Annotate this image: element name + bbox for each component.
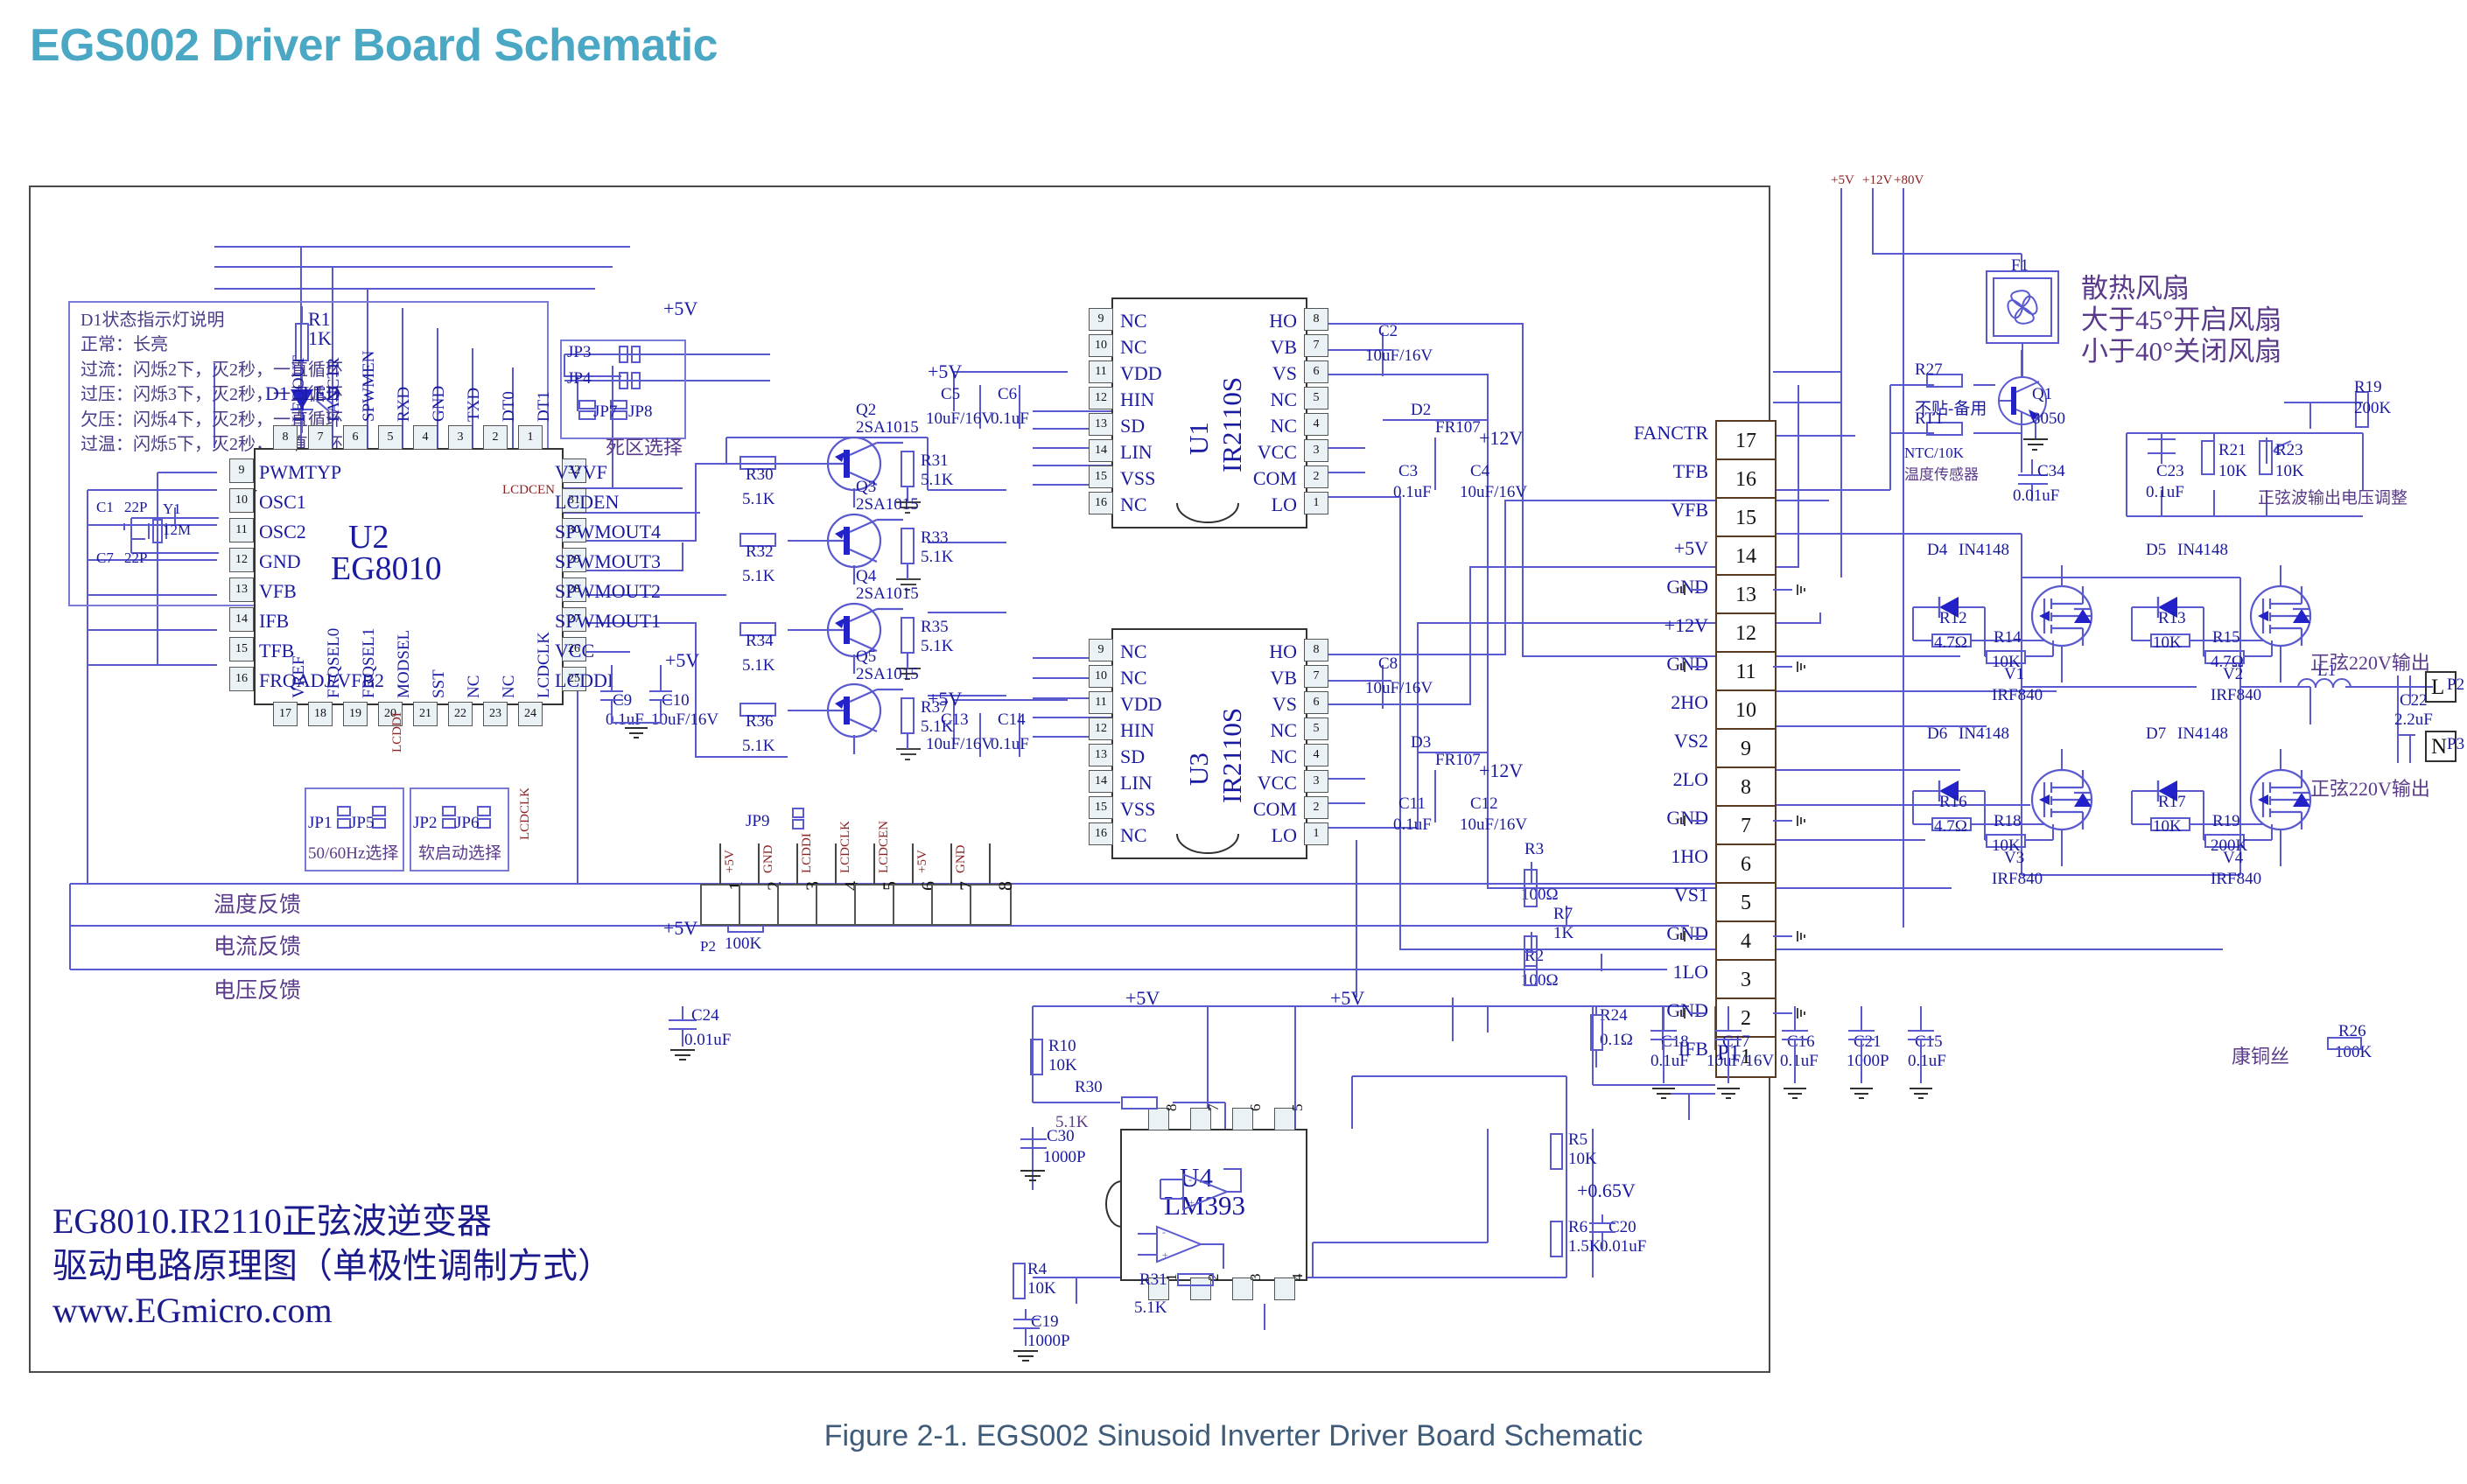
d7-ref: D7 [2146, 724, 2166, 744]
p1-pin-label-2ho-10: 2HO [1671, 691, 1708, 714]
c22-value: 2.2uF [2394, 710, 2433, 730]
ground-symbol [1658, 929, 1711, 952]
c24-ref: C24 [691, 1006, 719, 1025]
r10-symbol [1026, 1032, 1052, 1094]
u3-pin-13[interactable]: 13 [1089, 744, 1113, 766]
r19-ref: R19 [2354, 378, 2382, 397]
u3-pin-12[interactable]: 12 [1089, 717, 1113, 740]
brand-line-2: 驱动电路原理图（单极性调制方式） [53, 1243, 613, 1288]
u3-pin-14[interactable]: 14 [1089, 770, 1113, 793]
u2-pin-label-osc2: OSC2 [259, 521, 306, 543]
u3-pin-10[interactable]: 10 [1089, 665, 1113, 688]
u3-pin-label-vb-7: VB [1270, 667, 1297, 689]
u2-pin-23[interactable]: 23 [483, 702, 508, 726]
p2-ref: P2 [700, 938, 716, 955]
q2-part: 2SA1015 [856, 418, 919, 437]
u1-pin-4[interactable]: 4 [1304, 413, 1328, 436]
c24-value: 0.01uF [684, 1031, 731, 1050]
jp7-label: JP7 [593, 402, 617, 422]
svg-text:+: + [1162, 1249, 1168, 1261]
u2-pin-10[interactable]: 10 [229, 488, 254, 513]
p2-pin-wire [718, 843, 726, 884]
r1-value: 1K [308, 327, 332, 350]
p1-pin-16[interactable]: 16 [1715, 458, 1777, 500]
u2-pin-12[interactable]: 12 [229, 548, 254, 572]
u1-pin-5[interactable]: 5 [1304, 387, 1328, 409]
u1-pin-label-vss-15: VSS [1120, 467, 1155, 490]
u1-pin-label-lin-14: LIN [1120, 441, 1153, 464]
p2-pin-wire [833, 843, 842, 884]
ground-symbol [1773, 814, 1826, 836]
u2-pin-7[interactable]: 7 [308, 425, 333, 450]
p1-pin-label-1ho-6: 1HO [1671, 845, 1708, 868]
mosfet-v3-part: IRF840 [1992, 870, 2043, 889]
q5-part: 2SA1015 [856, 665, 919, 684]
u1-pin-label-vcc-3: VCC [1258, 441, 1297, 464]
r27-symbol [1117, 1094, 1178, 1116]
u2-pin-label-dt1: DT1 [535, 391, 554, 422]
u3-pin-label-com-2: COM [1253, 798, 1297, 821]
u1-pin-label-com-2: COM [1253, 467, 1297, 490]
d2-ref: D2 [1411, 401, 1431, 420]
c34-ref: C34 [2037, 462, 2065, 481]
p1-pin-label-tfb-16: TFB [1673, 460, 1708, 483]
u2-pin-17[interactable]: 17 [273, 702, 298, 726]
u1-ref: U1 [1183, 422, 1215, 455]
p2-pin-wire [987, 843, 996, 884]
q1-part: 8050 [2032, 409, 2065, 429]
r6-symbol [1545, 1214, 1572, 1276]
ground-symbol [1658, 583, 1711, 605]
c19-symbol [1008, 1309, 1052, 1370]
p1-pin-label-fanctr-17: FANCTR [1634, 422, 1708, 444]
u2-pin-15[interactable]: 15 [229, 637, 254, 661]
net-5v-lm393-b: +5V [1330, 987, 1364, 1010]
u1-pin-13[interactable]: 13 [1089, 413, 1113, 436]
p2-pin-wire [949, 843, 957, 884]
u2-pin-22[interactable]: 22 [448, 702, 473, 726]
r-r12-ref: R12 [1939, 609, 1967, 628]
u2-pin-3[interactable]: 3 [448, 425, 473, 450]
r23-ref: R23 [2275, 441, 2303, 460]
u2-pin-label-vref: VREF [290, 655, 309, 698]
ground-symbol [1773, 929, 1826, 952]
u1-pin-label-vdd-11: VDD [1120, 362, 1162, 385]
c6-value: 0.1uF [991, 409, 1029, 429]
u2-pin-label-spwmen: SPWMEN [360, 351, 379, 422]
u3-pin-label-nc-9: NC [1120, 640, 1147, 663]
u1-pin-label-nc-5: NC [1270, 388, 1297, 411]
u1-pin-label-nc-9: NC [1120, 310, 1147, 332]
rt1-note: 温度传感器 [1904, 462, 1979, 484]
u3-pin-11[interactable]: 11 [1089, 691, 1113, 714]
u2-pin-11[interactable]: 11 [229, 518, 254, 542]
u3-pin-6[interactable]: 6 [1304, 691, 1328, 714]
r-r18-ref: R18 [1994, 812, 2022, 831]
net-5v-u1: +5V [928, 360, 962, 383]
u3-notch [1177, 834, 1238, 860]
r-r33-value: 5.1K [921, 548, 953, 567]
u4-pin-number-4: 4 [1289, 1274, 1307, 1282]
u1-pin-label-ho-8: HO [1269, 310, 1297, 332]
u3-pin-16[interactable]: 16 [1089, 822, 1113, 845]
p1-pin-7[interactable]: 7 [1715, 805, 1777, 847]
d5-ref: D5 [2146, 541, 2166, 560]
p1-pin-9[interactable]: 9 [1715, 728, 1777, 770]
r-r31-ref: R31 [921, 451, 949, 471]
c3-ref: C3 [1398, 462, 1418, 481]
u2-pin-1[interactable]: 1 [518, 425, 543, 450]
p1-pin-label-+5v-14: +5V [1674, 537, 1708, 560]
feedback-label-current: 电流反馈 [214, 929, 301, 961]
u1-pin-label-lo-1: LO [1272, 493, 1297, 516]
r5-value: 10K [1568, 1150, 1597, 1169]
p2-pin-number-8: 8 [994, 881, 1017, 891]
p2-5v-label: +5V [663, 917, 697, 940]
r21-ref: R21 [2218, 441, 2246, 460]
u1-pin-label-vs-6: VS [1272, 362, 1297, 385]
u3-pin-label-hin-12: HIN [1120, 719, 1154, 742]
r-r35-value: 5.1K [921, 637, 953, 656]
c23-ref: C23 [2156, 462, 2184, 481]
mosfet-v3-ref: V3 [2004, 849, 2024, 868]
mosfet-v1-ref: V1 [2004, 665, 2024, 684]
u1-pin-3[interactable]: 3 [1304, 439, 1328, 462]
u1-part: IR2110S [1216, 377, 1248, 472]
u2-pin-label-sst: SST [430, 669, 449, 698]
d5-part: IN4148 [2177, 541, 2228, 560]
p1-pin-8[interactable]: 8 [1715, 766, 1777, 808]
u2-pin-9[interactable]: 9 [229, 458, 254, 483]
r-r35-ref: R35 [921, 618, 949, 637]
jp4-label: JP4 [567, 369, 591, 388]
output-l-label: L [2431, 675, 2444, 700]
u2-pin-label-nc: NC [500, 675, 519, 698]
u3-pin-9[interactable]: 9 [1089, 639, 1113, 661]
q3-part: 2SA1015 [856, 495, 919, 514]
u2-pin-21[interactable]: 21 [413, 702, 438, 726]
r-r33-ref: R33 [921, 528, 949, 548]
ground-symbol [1773, 660, 1826, 682]
d3-ref: D3 [1411, 733, 1431, 752]
r-r17-value: 10K [2153, 817, 2182, 836]
p1-pin-label-vs1-5: VS1 [1674, 884, 1708, 906]
d2-part: FR107 [1435, 418, 1481, 437]
u2-pin-13[interactable]: 13 [229, 577, 254, 602]
u1-notch [1177, 503, 1238, 529]
p1-feedback-resistors [1514, 849, 1549, 1041]
u2-pin-18[interactable]: 18 [308, 702, 333, 726]
feedback-label-temp: 温度反馈 [214, 887, 301, 919]
net-lcdcen: LCDCEN [502, 483, 555, 498]
q4-ref: Q4 [856, 567, 876, 586]
jp5-label: JP5 [350, 814, 374, 833]
feedback-label-voltage: 电压反馈 [214, 973, 301, 1004]
p1-pin-12[interactable]: 12 [1715, 612, 1777, 654]
ac-out-top-label: 正弦220V输出 [2310, 647, 2430, 675]
c14-ref: C14 [998, 710, 1026, 730]
p1-pin-label-2lo-8: 2LO [1673, 768, 1708, 791]
r-r13-ref: R13 [2158, 609, 2186, 628]
u2-pin-label-modsel: MODSEL [395, 630, 414, 698]
net-lcddi: LCDDI [390, 712, 405, 752]
c6-ref: C6 [998, 385, 1017, 404]
r5-symbol [1545, 1127, 1572, 1188]
rail-label-5v: +5V [1831, 173, 1854, 188]
p1-pin-5[interactable]: 5 [1715, 882, 1777, 924]
u1-pin-label-nc-4: NC [1270, 415, 1297, 437]
u3-pin-label-vs-6: VS [1272, 693, 1297, 716]
u3-pin-2[interactable]: 2 [1304, 796, 1328, 819]
c1-ref: C1 [96, 499, 114, 516]
u3-pin-label-lo-1: LO [1272, 824, 1297, 847]
p1-pin-label-1lo-3: 1LO [1673, 961, 1708, 983]
fan-note-line3: 小于40°关闭风扇 [2081, 329, 2281, 368]
u3-pin-15[interactable]: 15 [1089, 796, 1113, 819]
net-12v-u1: +12V [1479, 427, 1523, 450]
y1-ref: Y1 [163, 500, 181, 518]
u3-pin-label-vss-15: VSS [1120, 798, 1155, 821]
rail-label-12v: +12V [1862, 173, 1892, 188]
r21-value: 10K [2218, 462, 2247, 481]
u1-pin-8[interactable]: 8 [1304, 308, 1328, 331]
r-r15-ref: R15 [2212, 628, 2240, 647]
u4-pin-number-7: 7 [1205, 1104, 1223, 1112]
r-r36-value: 5.1K [742, 737, 774, 756]
u2-pin-24[interactable]: 24 [518, 702, 543, 726]
net-lcdclk: LCDCLK [518, 787, 533, 840]
r-r32-ref: R32 [746, 542, 774, 562]
d6-part: IN4148 [1959, 724, 2009, 744]
p2-pin-wire [756, 843, 765, 884]
p1-pin-17[interactable]: 17 [1715, 420, 1777, 462]
u3-part: IR2110S [1216, 708, 1248, 803]
r7-ref: R7 [1553, 905, 1573, 924]
jp2-label: JP2 [413, 814, 437, 833]
c23-value: 0.1uF [2146, 483, 2184, 502]
u1-pin-9[interactable]: 9 [1089, 308, 1113, 331]
u2-pin-label-gnd: GND [430, 386, 449, 422]
u3-pin-label-vcc-3: VCC [1258, 772, 1297, 794]
u3-pin-label-vdd-11: VDD [1120, 693, 1162, 716]
y1-value: 12M [163, 521, 191, 539]
deadzone-label: 死区选择 [606, 432, 683, 460]
u2-pin-label-fanctr: FANCTR [325, 357, 344, 422]
r7-value: 1K [1553, 924, 1573, 943]
p1-pin-14[interactable]: 14 [1715, 535, 1777, 577]
u4-pin-number-3: 3 [1247, 1274, 1265, 1282]
ground-symbol [1658, 660, 1711, 682]
d6-ref: D6 [1927, 724, 1947, 744]
c5-ref: C5 [941, 385, 960, 404]
r-r30-ref: R30 [746, 465, 774, 485]
r-r16-ref: R16 [1939, 793, 1967, 812]
r10-value: 10K [1048, 1056, 1077, 1075]
u1-pin-7[interactable]: 7 [1304, 334, 1328, 357]
c1-value: 22P [124, 499, 147, 516]
r19-value: 200K [2354, 399, 2391, 418]
q5-ref: Q5 [856, 647, 876, 667]
u2-pin-label-osc1: OSC1 [259, 491, 306, 514]
u2-pin-label-ifb: IFB [259, 610, 289, 633]
u1-pin-11[interactable]: 11 [1089, 360, 1113, 383]
u2-pin-label-pwmtyp: PWMTYP [259, 461, 341, 484]
u2-pin-19[interactable]: 19 [343, 702, 368, 726]
u1-pin-10[interactable]: 10 [1089, 334, 1113, 357]
u2-pin-label-ledout: LEDOUT [290, 355, 309, 422]
p1-pin-3[interactable]: 3 [1715, 959, 1777, 1001]
u1-pin-15[interactable]: 15 [1089, 465, 1113, 488]
net-5v-u3: +5V [928, 688, 962, 710]
r26-ref: R31 [1139, 1270, 1167, 1290]
u3-pin-7[interactable]: 7 [1304, 665, 1328, 688]
u3-pin-1[interactable]: 1 [1304, 822, 1328, 845]
r25-ref: R27 [1915, 360, 1943, 380]
jp3-label: JP3 [567, 343, 591, 362]
svg-text:-: - [1188, 1173, 1192, 1186]
u2-pin-label-frqsel0: FRQSEL0 [325, 628, 344, 698]
c13-ref: C13 [941, 710, 969, 730]
p1-pin-label-vs2-9: VS2 [1674, 730, 1708, 752]
c13-value: 10uF/16V [926, 735, 993, 754]
u2-pin-label-frqsel1: FRQSEL1 [360, 628, 379, 698]
r-r31-value: 5.1K [921, 471, 953, 490]
u2-pin-label-dt0: DT0 [500, 391, 519, 422]
u1-pin-1[interactable]: 1 [1304, 492, 1328, 514]
d4-part: IN4148 [1959, 541, 2009, 560]
c12-ref: C12 [1470, 794, 1498, 814]
u3-pin-label-nc-5: NC [1270, 719, 1297, 742]
net-12v-u3: +12V [1479, 759, 1523, 782]
shunt-label: 康铜丝 [2232, 1041, 2289, 1069]
p2-pin-wire [872, 843, 880, 884]
u1-pin-label-nc-16: NC [1120, 493, 1147, 516]
u2-pin-4[interactable]: 4 [413, 425, 438, 450]
u2-pin-label-txd: TXD [465, 388, 484, 422]
u2-pin-label-gnd: GND [259, 550, 301, 573]
q4-part: 2SA1015 [856, 584, 919, 604]
c4-ref: C4 [1470, 462, 1489, 481]
c5-value: 10uF/16V [926, 409, 993, 429]
r-r19-ref: R19 [2212, 812, 2240, 831]
brand-block: EG8010.IR2110正弦波逆变器 驱动电路原理图（单极性调制方式） www… [53, 1199, 613, 1333]
u1-pin-label-nc-10: NC [1120, 336, 1147, 359]
c2-ref: C2 [1378, 322, 1398, 341]
jp1-label: JP1 [308, 814, 332, 833]
c2-value: 10uF/16V [1365, 346, 1433, 366]
u4-pin-number-5: 5 [1289, 1104, 1307, 1112]
p2-pin-wire [795, 843, 803, 884]
p1-pin-15[interactable]: 15 [1715, 497, 1777, 539]
u2-pin-14[interactable]: 14 [229, 607, 254, 632]
u3-pin-label-nc-16: NC [1120, 824, 1147, 847]
r26-symbol [1173, 1270, 1234, 1293]
u1-pin-6[interactable]: 6 [1304, 360, 1328, 383]
u3-pin-4[interactable]: 4 [1304, 744, 1328, 766]
u1-pin-2[interactable]: 2 [1304, 465, 1328, 488]
u2-pin-5[interactable]: 5 [378, 425, 403, 450]
mosfet-v2-part: IRF840 [2211, 686, 2261, 705]
r38-value: 100K [725, 934, 761, 954]
c11-value: 0.1uF [1393, 815, 1432, 835]
c11-ref: C11 [1398, 794, 1426, 814]
p1-pin-13[interactable]: 13 [1715, 574, 1777, 616]
u2-pin-label-vfb: VFB [259, 580, 297, 603]
u1-pin-12[interactable]: 12 [1089, 387, 1113, 409]
p2-pin-wire [910, 843, 919, 884]
r-r34-ref: R34 [746, 632, 774, 651]
u3-pin-label-nc-10: NC [1120, 667, 1147, 689]
net-5v-top: +5V [663, 297, 697, 320]
r-r16-value: 4.7Ω [1934, 817, 1967, 836]
u2-pin-2[interactable]: 2 [483, 425, 508, 450]
u3-pin-label-nc-4: NC [1270, 745, 1297, 768]
net-065v: +0.65V [1577, 1179, 1636, 1202]
mosfet-v4-ref: V4 [2223, 849, 2243, 868]
u3-pin-8[interactable]: 8 [1304, 639, 1328, 661]
mosfet-v4-part: IRF840 [2211, 870, 2261, 889]
r-r12-value: 4.7Ω [1934, 633, 1967, 653]
u3-pin-3[interactable]: 3 [1304, 770, 1328, 793]
u3-pin-label-lin-14: LIN [1120, 772, 1153, 794]
r-r13-value: 10K [2153, 633, 2182, 653]
u3-ref: U3 [1183, 752, 1215, 786]
p1-pin-11[interactable]: 11 [1715, 651, 1777, 693]
p1-pin-label-vfb-15: VFB [1671, 499, 1708, 521]
r-r14-ref: R14 [1994, 628, 2022, 647]
softstart-select-label: 软启动选择 [418, 840, 501, 864]
u3-pin-5[interactable]: 5 [1304, 717, 1328, 740]
rt1-value: NTC/10K [1904, 444, 1964, 462]
u2-vcc-caps [595, 665, 718, 744]
f1-ref: F1 [2011, 256, 2029, 276]
p1-pin-10[interactable]: 10 [1715, 689, 1777, 731]
jp6-label: JP6 [455, 814, 479, 833]
u2-pin-16[interactable]: 16 [229, 667, 254, 691]
d3-part: FR107 [1435, 751, 1481, 770]
output-n-label: N [2431, 735, 2447, 759]
mosfet-v1-part: IRF840 [1992, 686, 2043, 705]
sine-adjust-label: 正弦波输出电压调整 [2258, 485, 2407, 508]
r23-value: 10K [2275, 462, 2304, 481]
u2-part: EG8010 [331, 549, 442, 588]
ground-symbol [1658, 814, 1711, 836]
ac-out-bottom-label: 正弦220V输出 [2310, 773, 2430, 801]
brand-line-3: www.EGmicro.com [53, 1288, 613, 1333]
q1-ref: Q1 [2032, 385, 2052, 404]
u2-pin-6[interactable]: 6 [343, 425, 368, 450]
c7-ref: C7 [96, 549, 114, 567]
p1-pin-label-+12v-12: +12V [1665, 614, 1708, 637]
c3-value: 0.1uF [1393, 483, 1432, 502]
u2-pin-8[interactable]: 8 [273, 425, 298, 450]
d1-ref: D1 [265, 382, 289, 405]
jp9-symbol [774, 805, 826, 836]
p1-pin-6[interactable]: 6 [1715, 843, 1777, 885]
u2-pin-label-lcdclk: LCDCLK [535, 632, 554, 698]
p1-pin-4[interactable]: 4 [1715, 920, 1777, 962]
ground-symbol [1773, 583, 1826, 605]
u1-pin-14[interactable]: 14 [1089, 439, 1113, 462]
r24-symbol [2319, 1032, 2372, 1067]
u1-pin-16[interactable]: 16 [1089, 492, 1113, 514]
r10-ref: R10 [1048, 1037, 1076, 1056]
u4-pin-number-6: 6 [1247, 1104, 1265, 1112]
u2-pin-label-nc: NC [465, 675, 484, 698]
rail-label-80v: +80V [1894, 173, 1924, 188]
jp8-label: JP8 [628, 402, 652, 422]
c8-value: 10uF/16V [1365, 679, 1433, 698]
